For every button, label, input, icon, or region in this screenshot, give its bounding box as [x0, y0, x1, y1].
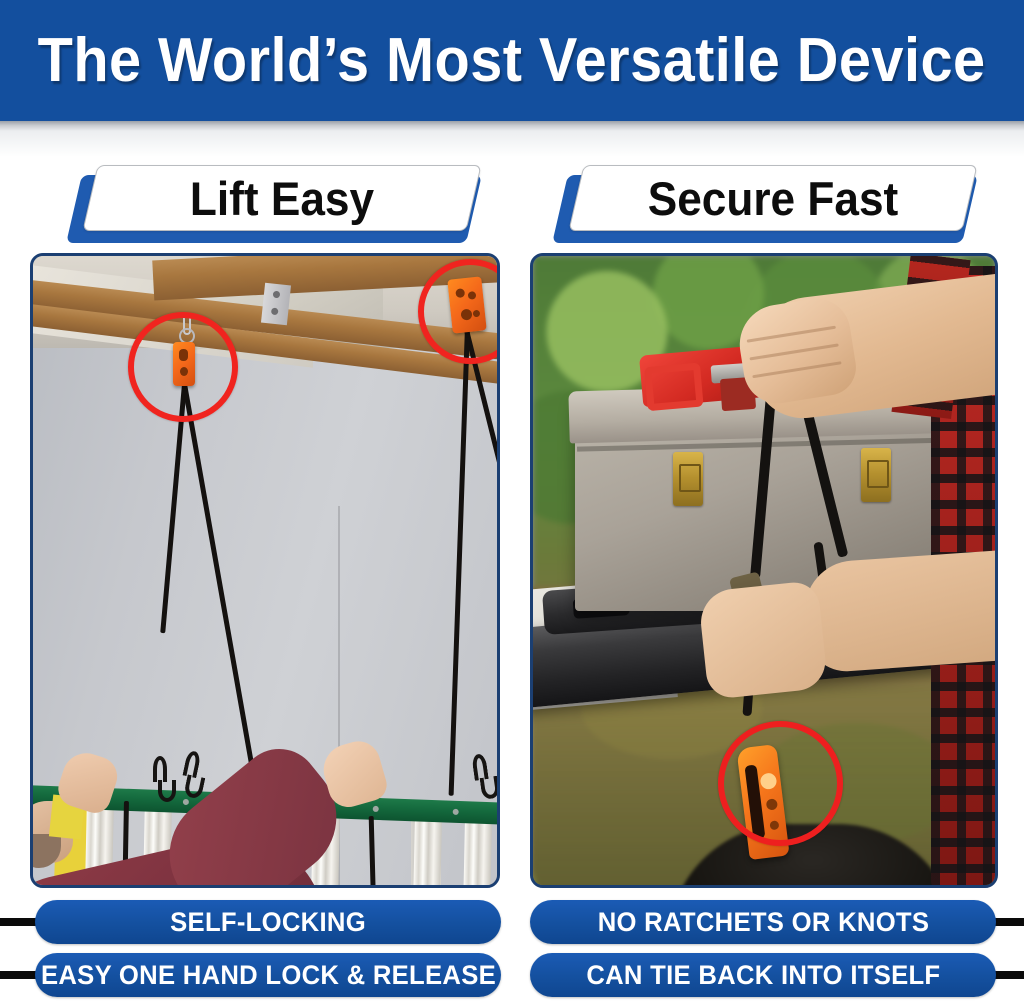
feature-label: NO RATCHETS OR KNOTS [597, 909, 929, 936]
knuckle-line [749, 343, 838, 360]
header-banner: The World’s Most Versatile Device [0, 0, 1024, 121]
feature-pill-no-ratchets[interactable]: NO RATCHETS OR KNOTS [530, 900, 996, 944]
ladder-rung [461, 822, 492, 885]
person-hand-lower [698, 580, 829, 700]
feature-label: SELF-LOCKING [170, 909, 366, 936]
person-forearm-lower [801, 548, 995, 674]
section-ribbon-lift-easy: Lift Easy [74, 165, 474, 243]
scene-garage-ladder-lift [33, 256, 497, 885]
feature-pill-easy-one-hand[interactable]: EASY ONE HAND LOCK & RELEASE [35, 953, 501, 997]
knuckle-line [747, 326, 836, 343]
knuckle-line [752, 361, 841, 378]
feature-pill-self-locking[interactable]: SELF-LOCKING [35, 900, 501, 944]
highlight-circle-icon [718, 721, 843, 846]
ribbon-label-lift-easy: Lift Easy [102, 165, 463, 231]
feature-pill-tie-back[interactable]: CAN TIE BACK INTO ITSELF [530, 953, 996, 997]
toolbox-latch [673, 452, 703, 506]
feature-label: EASY ONE HAND LOCK & RELEASE [40, 962, 495, 989]
ladder-rung [411, 818, 442, 885]
header-fade-gradient [0, 131, 1024, 157]
header-underglow-divider [0, 121, 1024, 131]
ladder-rivet [453, 809, 459, 815]
photo-secure-fast [530, 253, 998, 888]
s-hook [153, 756, 167, 782]
section-ribbon-secure-fast: Secure Fast [560, 165, 970, 243]
scene-atv-toolbox-secure [533, 256, 995, 885]
page-title: The World’s Most Versatile Device [38, 30, 986, 92]
ribbon-label-secure-fast: Secure Fast [588, 165, 958, 231]
ladder-rivet [183, 799, 189, 805]
ladder-rivet [373, 806, 379, 812]
photo-lift-easy [30, 253, 500, 888]
joist-metal-bracket [261, 283, 291, 325]
toolbox-latch [861, 448, 891, 502]
feature-label: CAN TIE BACK INTO ITSELF [586, 962, 940, 989]
highlight-circle-icon [128, 312, 238, 422]
